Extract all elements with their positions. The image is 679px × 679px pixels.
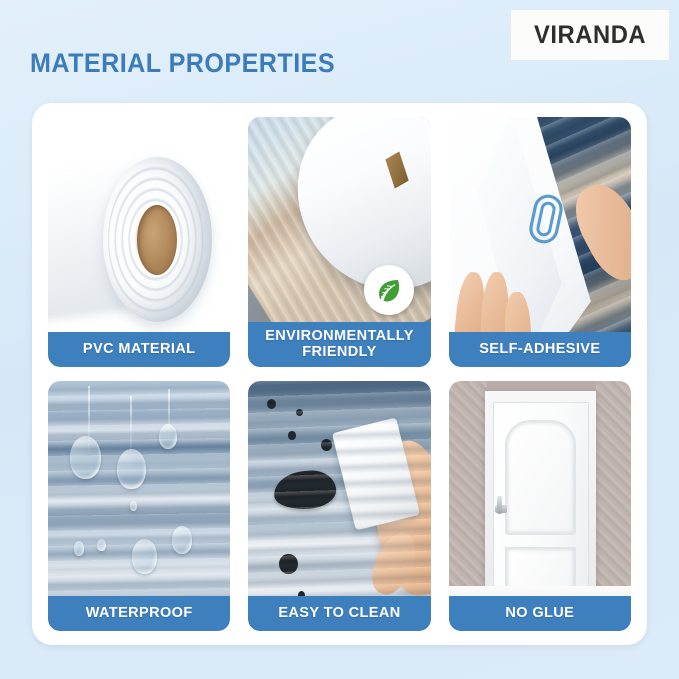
- easy-to-clean-image: [248, 381, 430, 631]
- door-handle: [495, 505, 507, 513]
- feature-tile-easy-to-clean[interactable]: EASY TO CLEAN: [248, 381, 430, 631]
- water-drop-3: [159, 424, 177, 449]
- feature-label-no-glue: NO GLUE: [449, 596, 631, 631]
- no-glue-door-image: [449, 381, 631, 631]
- water-trail-2: [130, 396, 132, 451]
- page-title: MATERIAL PROPERTIES: [30, 48, 335, 79]
- pvc-roll-image: [48, 117, 230, 367]
- water-trail-3: [168, 389, 170, 439]
- feature-label-easy-to-clean: EASY TO CLEAN: [248, 596, 430, 631]
- stain-large: [273, 469, 337, 511]
- eco-leaf-badge: [364, 265, 414, 315]
- hand-shape: [363, 436, 431, 601]
- pvc-cardboard-core: [137, 205, 177, 275]
- feature-tile-self-adhesive[interactable]: SELF-ADHESIVE: [449, 117, 631, 367]
- door-panel-upper: [505, 420, 576, 535]
- thumb-shape: [364, 526, 424, 600]
- door-leaf: [493, 402, 589, 602]
- door-frame: [485, 391, 596, 601]
- feature-label-environmentally-friendly: ENVIRONMENTALLYFRIENDLY: [248, 322, 430, 367]
- page-header: MATERIAL PROPERTIES VIRANDA: [0, 0, 679, 103]
- waterproof-image: [48, 381, 230, 631]
- wall-right: [596, 381, 631, 586]
- wall-left: [449, 381, 487, 586]
- water-drop-4: [132, 539, 158, 574]
- brand-name: VIRANDA: [534, 21, 646, 50]
- feature-tile-no-glue[interactable]: NO GLUE: [449, 381, 631, 631]
- self-adhesive-image: [449, 117, 631, 367]
- stain-dot-1: [267, 399, 276, 409]
- feature-tile-environmentally-friendly[interactable]: ENVIRONMENTALLYFRIENDLY: [248, 117, 430, 367]
- water-drop-8: [130, 501, 137, 511]
- feature-tile-waterproof[interactable]: WATERPROOF: [48, 381, 230, 631]
- brand-logo-box: VIRANDA: [511, 10, 669, 60]
- features-grid: PVC MATERIAL ENVIRONMENTALLYFRIENDLY: [48, 117, 631, 631]
- stain-dot-2: [296, 409, 303, 417]
- feature-tile-pvc-material[interactable]: PVC MATERIAL: [48, 117, 230, 367]
- cleaning-cloth-shape: [332, 417, 420, 530]
- water-drop-5: [172, 526, 192, 554]
- feature-label-pvc-material: PVC MATERIAL: [48, 332, 230, 367]
- leaf-icon: [374, 275, 404, 305]
- stain-dot-3: [288, 431, 295, 440]
- stain-dot-4: [321, 439, 332, 452]
- water-drop-2: [117, 449, 146, 489]
- water-trail-1: [88, 386, 90, 451]
- water-drop-6: [74, 541, 85, 556]
- water-drop-1: [70, 436, 101, 479]
- stain-dot-5: [279, 554, 297, 574]
- feature-label-self-adhesive: SELF-ADHESIVE: [449, 332, 631, 367]
- water-drop-7: [97, 539, 106, 552]
- feature-label-waterproof: WATERPROOF: [48, 596, 230, 631]
- features-card: PVC MATERIAL ENVIRONMENTALLYFRIENDLY: [32, 103, 647, 645]
